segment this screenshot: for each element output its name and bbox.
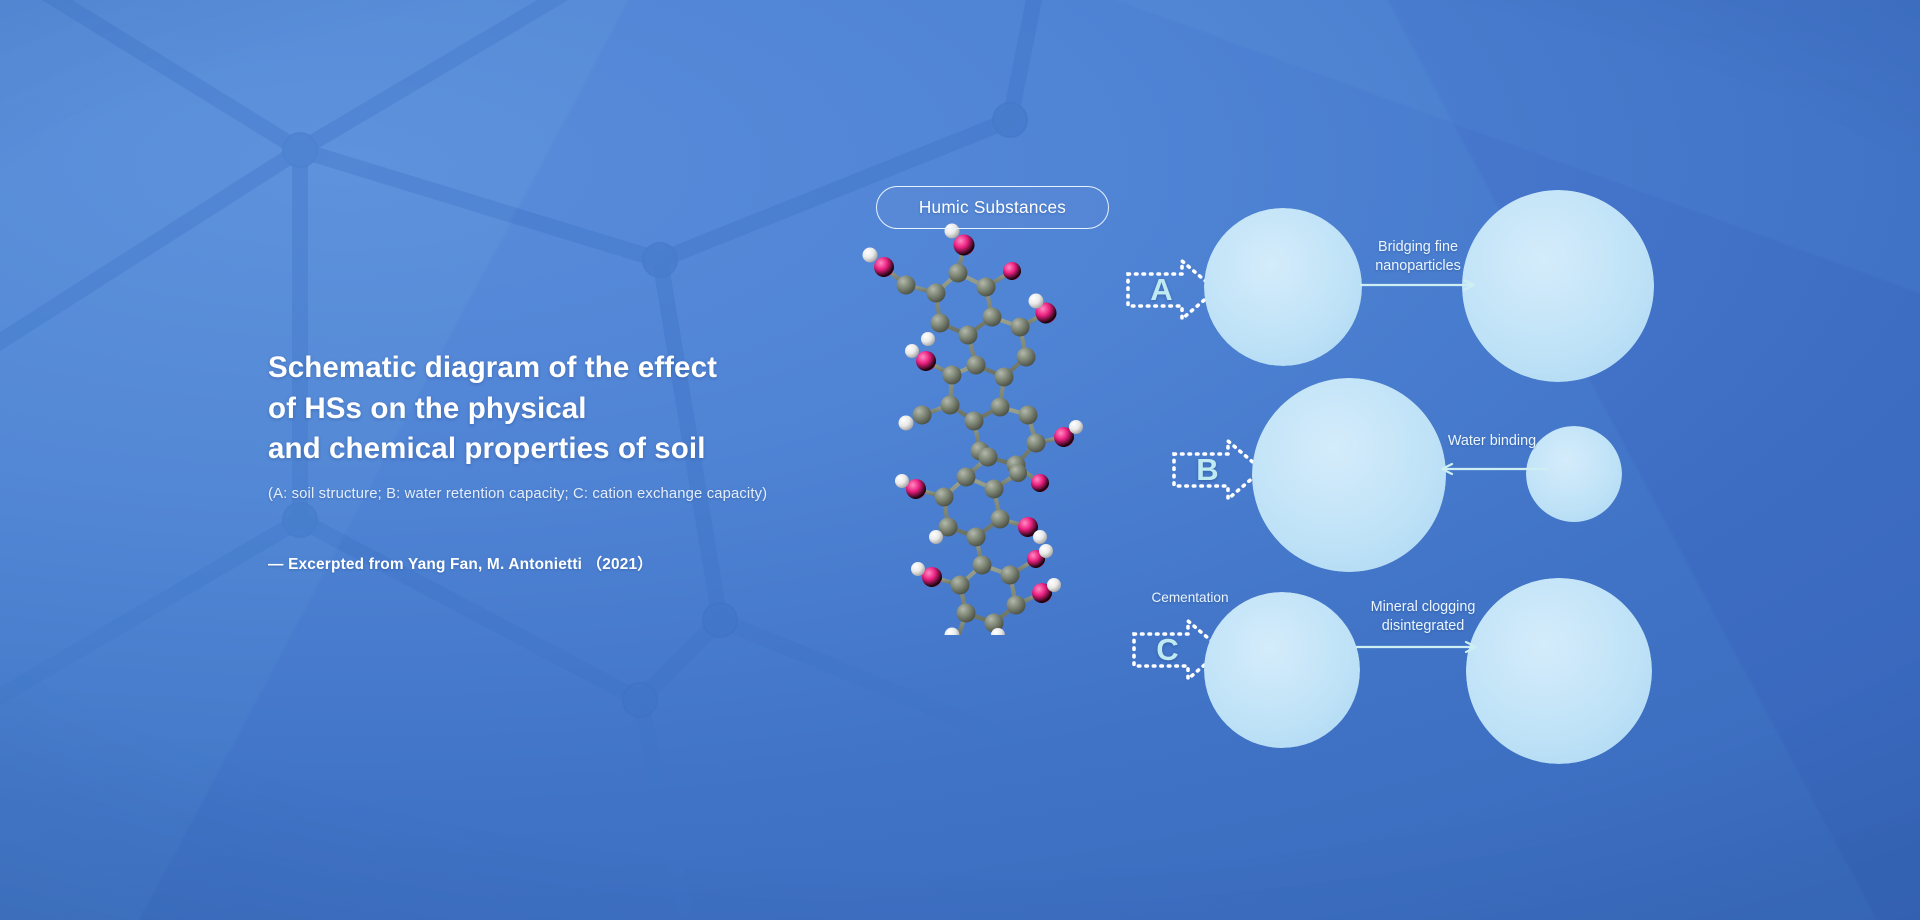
atom-carbon [913, 406, 932, 425]
flow-arrow-right-icon [1360, 278, 1484, 292]
atom-carbon [1007, 596, 1026, 615]
atom-oxygen [1031, 474, 1049, 492]
atom-oxygen [922, 567, 942, 587]
atom-hydrogen [1039, 544, 1053, 558]
atom-hydrogen [895, 474, 909, 488]
atom-carbon [951, 576, 970, 595]
circle-cemented-mineral-stack: Minerals Minerals Minerals [1204, 592, 1360, 748]
atom-carbon [927, 284, 946, 303]
atom-carbon [935, 488, 954, 507]
atom-hydrogen [1033, 530, 1047, 544]
atom-oxygen [916, 351, 936, 371]
atom-carbon [977, 278, 996, 297]
humic-substances-label-text: Humic Substances [919, 197, 1066, 218]
flow-label-bridging: Bridging fine nanoparticles [1348, 238, 1488, 276]
atom-carbon [965, 412, 984, 431]
atom-carbon [1001, 566, 1020, 585]
atom-hydrogen [1029, 294, 1044, 309]
atom-hydrogen [1047, 578, 1061, 592]
flow-arrow-right-icon [1356, 640, 1486, 654]
atom-carbon [985, 480, 1004, 499]
atom-hydrogen [905, 344, 919, 358]
atom-carbon [957, 468, 976, 487]
circle-humic-substance-water-binding: HS HS Minerals [1252, 378, 1446, 572]
atom-hydrogen [1069, 420, 1083, 434]
atom-carbon [957, 604, 976, 623]
attribution-line: — Excerpted from Yang Fan, M. Antonietti… [268, 552, 908, 574]
atom-carbon [983, 308, 1002, 327]
page-title: Schematic diagram of the effect of HSs o… [268, 348, 908, 470]
atom-hydrogen [863, 248, 878, 263]
atom-carbon [1019, 406, 1038, 425]
flow-label-water-binding: Water binding [1432, 432, 1552, 451]
page-subtitle: (A: soil structure; B: water retention c… [268, 486, 908, 502]
flow-label-mineral-clogging: Mineral clogging disintegrated [1348, 598, 1498, 636]
page-title-line-2: of HSs on the physical [268, 389, 908, 430]
atom-carbon [949, 264, 968, 283]
text-panel: Schematic diagram of the effect of HSs o… [268, 348, 908, 574]
atom-carbon [941, 396, 960, 415]
atom-carbon [991, 510, 1010, 529]
circle-disc [1204, 592, 1360, 748]
circle-loose-mineral-fragments [1204, 208, 1362, 366]
atom-hydrogen [929, 530, 943, 544]
atom-oxygen [954, 235, 975, 256]
atom-carbon [979, 448, 998, 467]
circle-disc [1204, 208, 1362, 366]
atom-carbon [897, 276, 916, 295]
atom-carbon [931, 314, 950, 333]
page-title-line-3: and chemical properties of soil [268, 429, 908, 470]
atom-carbon [1017, 348, 1036, 367]
atom-carbon [991, 398, 1010, 417]
atom-carbon [943, 366, 962, 385]
atom-oxygen [906, 479, 926, 499]
atom-carbon [995, 368, 1014, 387]
atom-carbon [1011, 318, 1030, 337]
atom-hydrogen [945, 628, 960, 636]
humic-substance-molecule-model [840, 215, 1170, 635]
page-title-line-1: Schematic diagram of the effect [268, 348, 908, 389]
atom-oxygen [874, 257, 894, 277]
flow-arrow-left-icon [1440, 462, 1548, 476]
circle-disc [1462, 190, 1654, 382]
atom-hydrogen [911, 562, 925, 576]
atom-oxygen [1003, 262, 1021, 280]
humic-substances-label: Humic Substances [876, 186, 1109, 229]
atom-carbon [967, 356, 986, 375]
cementation-label: Cementation [1130, 588, 1250, 607]
atom-hydrogen [899, 416, 914, 431]
atom-carbon [1009, 464, 1027, 482]
circle-disc [1252, 378, 1446, 572]
atom-carbon [967, 528, 986, 547]
atom-carbon [1027, 434, 1046, 453]
atom-carbon [973, 556, 992, 575]
atom-hydrogen [921, 332, 935, 346]
atom-carbon [959, 326, 978, 345]
circle-aggregated-soil-particle [1462, 190, 1654, 382]
